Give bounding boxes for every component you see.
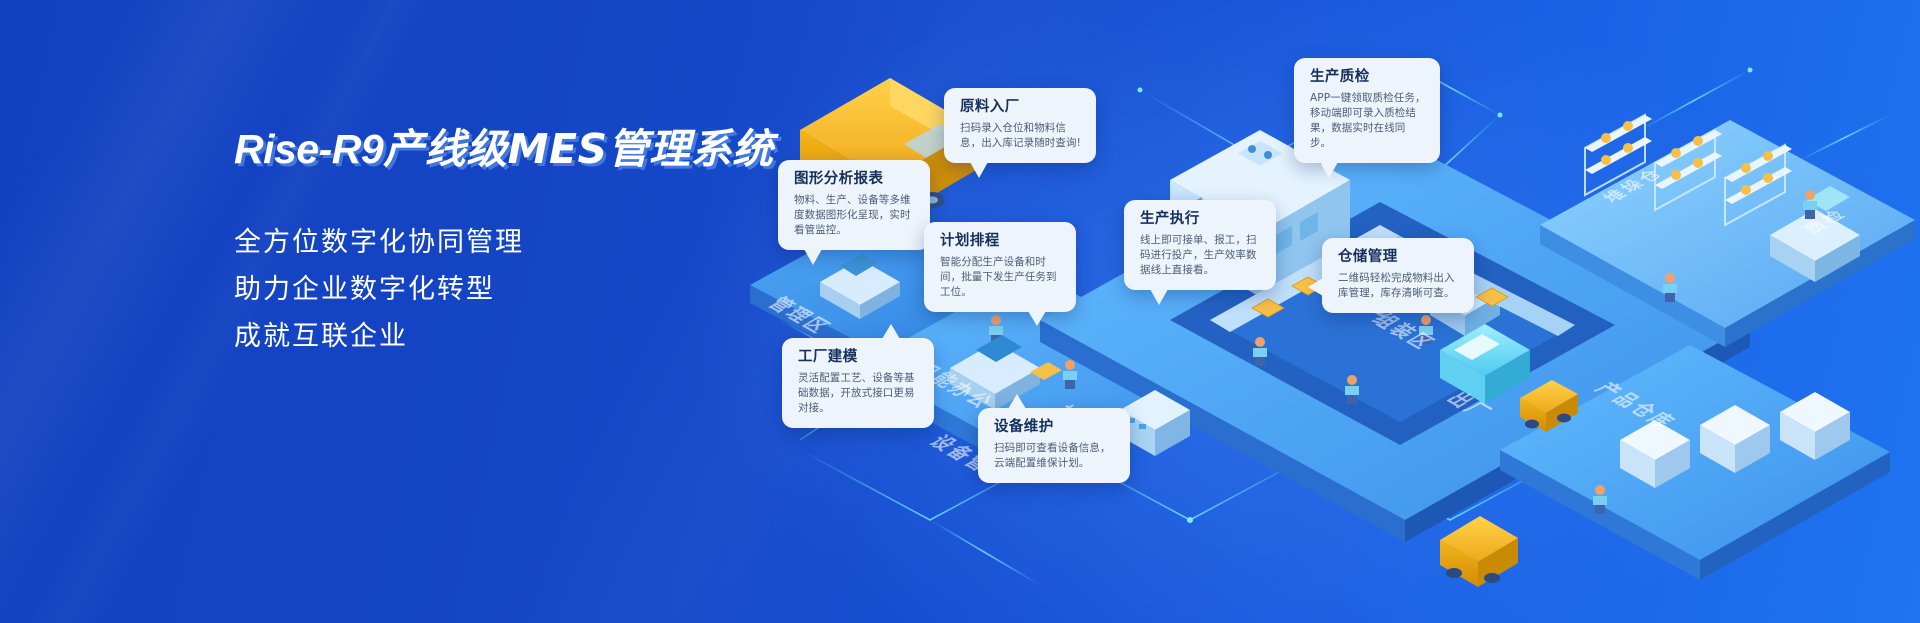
title-chinese-part: 产线级MES管理系统 (383, 125, 773, 173)
card-pointer-tail (1008, 394, 1026, 409)
subtitle-line-3: 成就互联企业 (234, 313, 774, 360)
card-body: APP一键领取质检任务，移动端即可录入质检结果，数据实时在线同步。 (1310, 91, 1426, 151)
hero-copy-block: Rise-R9产线级MES管理系统 全方位数字化协同管理 助力企业数字化转型 成… (234, 126, 774, 360)
card-title: 仓储管理 (1338, 249, 1460, 266)
info-card-equipment-maintenance[interactable]: 设备维护 扫码即可查看设备信息，云端配置维保计划。 (978, 408, 1130, 483)
card-body: 智能分配生产设备和时间，批量下发生产任务到工位。 (940, 255, 1062, 300)
info-card-raw-material-inbound[interactable]: 原料入厂 扫码录入仓位和物料信息，出入库记录随时查询! (944, 88, 1096, 163)
card-title: 图形分析报表 (794, 171, 916, 188)
card-title: 生产质检 (1310, 69, 1426, 86)
card-pointer-tail (1308, 278, 1323, 296)
info-card-graphic-analysis-report[interactable]: 图形分析报表 物料、生产、设备等多维度数据图形化呈现，实时看管监控。 (778, 160, 930, 250)
title-latin-part: Rise-R9 (234, 126, 383, 172)
subtitle-line-2: 助力企业数字化转型 (234, 266, 774, 313)
subtitle-list: 全方位数字化协同管理 助力企业数字化转型 成就互联企业 (234, 219, 774, 360)
card-body: 线上即可接单、报工，扫码进行投产，生产效率数据线上直接看。 (1140, 233, 1262, 278)
card-title: 生产执行 (1140, 211, 1262, 228)
card-title: 计划排程 (940, 233, 1062, 250)
info-card-warehouse-management[interactable]: 仓储管理 二维码轻松完成物料出入库管理，库存清晰可查。 (1322, 238, 1474, 313)
subtitle-line-1: 全方位数字化协同管理 (234, 219, 774, 266)
card-body: 扫码录入仓位和物料信息，出入库记录随时查询! (960, 121, 1082, 151)
card-pointer-tail (1320, 162, 1338, 178)
card-title: 设备维护 (994, 419, 1116, 436)
card-pointer-tail (882, 324, 900, 339)
mes-hero-banner: Rise-R9产线级MES管理系统 全方位数字化协同管理 助力企业数字化转型 成… (0, 0, 1920, 623)
card-pointer-tail (1150, 289, 1168, 305)
info-card-production-planning-scheduling[interactable]: 计划排程 智能分配生产设备和时间，批量下发生产任务到工位。 (924, 222, 1076, 312)
info-card-production-execution[interactable]: 生产执行 线上即可接单、报工，扫码进行投产，生产效率数据线上直接看。 (1124, 200, 1276, 290)
card-title: 工厂建模 (798, 349, 920, 366)
card-pointer-tail (1028, 311, 1046, 326)
card-body: 扫码即可查看设备信息，云端配置维保计划。 (994, 441, 1116, 471)
card-body: 物料、生产、设备等多维度数据图形化呈现，实时看管监控。 (794, 193, 916, 238)
page-title: Rise-R9产线级MES管理系统 (234, 126, 774, 173)
info-card-factory-modeling[interactable]: 工厂建模 灵活配置工艺、设备等基础数据，开放式接口更易对接。 (782, 338, 934, 428)
outbound-truck (1440, 516, 1518, 587)
card-body: 灵活配置工艺、设备等基础数据，开放式接口更易对接。 (798, 371, 920, 416)
card-pointer-tail (804, 249, 822, 265)
card-pointer-tail (970, 162, 988, 178)
card-body: 二维码轻松完成物料出入库管理，库存清晰可查。 (1338, 271, 1460, 301)
info-card-production-quality-inspection[interactable]: 生产质检 APP一键领取质检任务，移动端即可录入质检结果，数据实时在线同步。 (1294, 58, 1440, 163)
card-title: 原料入厂 (960, 99, 1082, 116)
